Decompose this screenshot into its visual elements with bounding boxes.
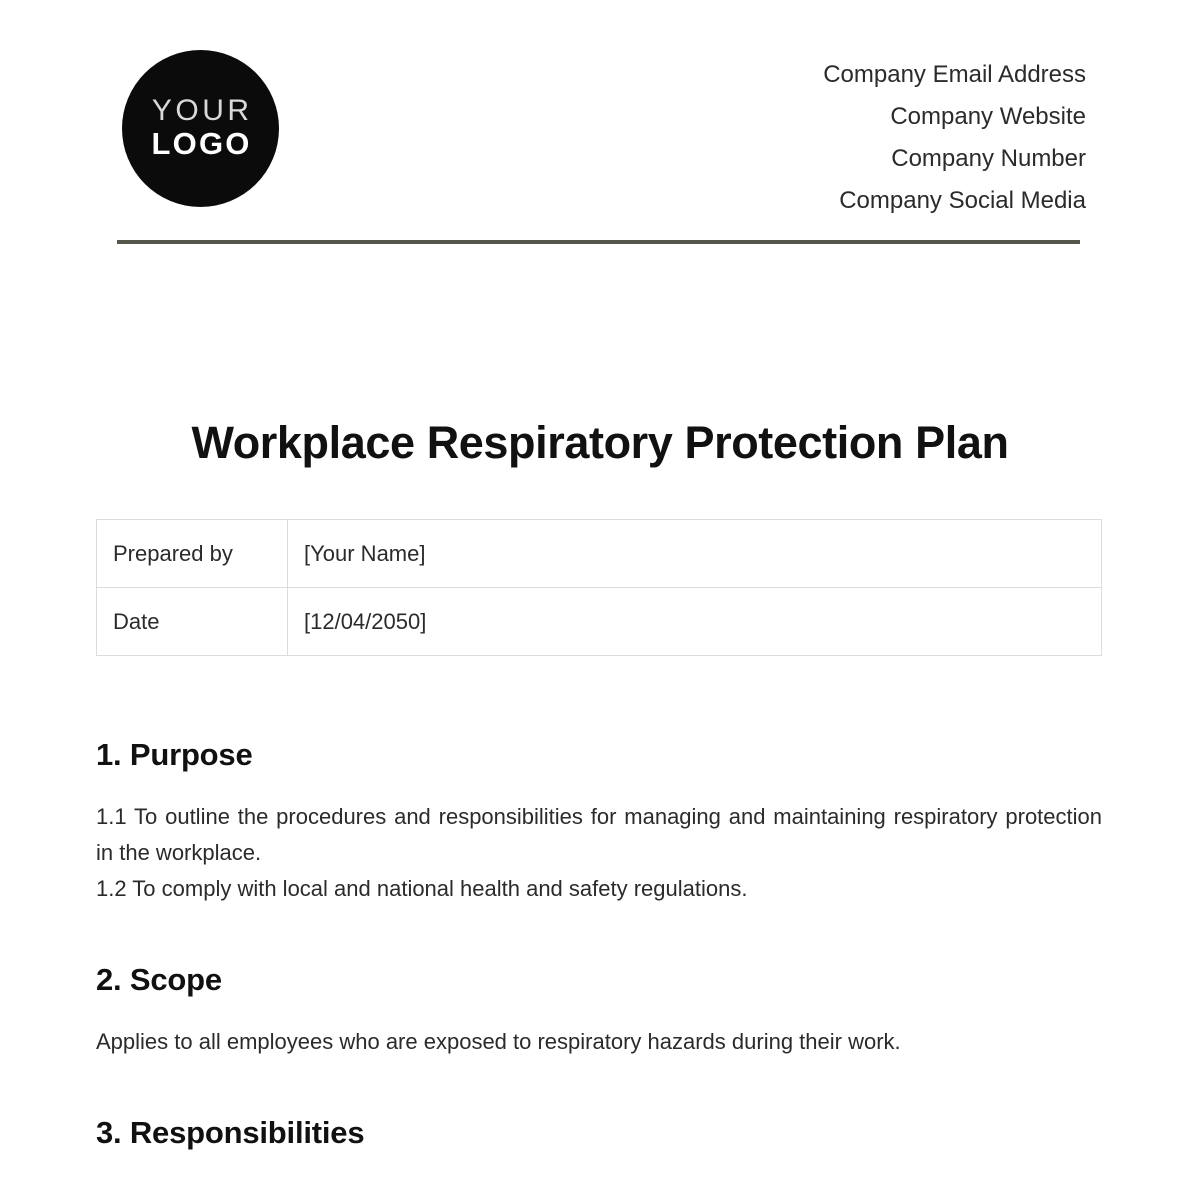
prepared-by-value[interactable]: [Your Name]	[288, 520, 1102, 588]
document-page: YOUR LOGO Company Email Address Company …	[0, 0, 1200, 1200]
section-scope-paragraph: Applies to all employees who are exposed…	[96, 1024, 1102, 1060]
header-divider-rule	[117, 240, 1080, 244]
contact-email-line: Company Email Address	[823, 54, 1086, 96]
date-value[interactable]: [12/04/2050]	[288, 588, 1102, 656]
date-label: Date	[97, 588, 288, 656]
section-responsibilities: 3. Responsibilities	[96, 1114, 1102, 1151]
document-info-table: Prepared by [Your Name] Date [12/04/2050…	[96, 519, 1102, 656]
table-row: Date [12/04/2050]	[97, 588, 1102, 656]
company-contact-block: Company Email Address Company Website Co…	[823, 50, 1086, 222]
logo-top-text: YOUR	[148, 96, 252, 127]
section-scope: 2. Scope Applies to all employees who ar…	[96, 961, 1102, 1060]
document-body: 1. Purpose 1.1 To outline the procedures…	[96, 736, 1102, 1178]
section-heading-scope: 2. Scope	[96, 961, 1102, 998]
logo-bottom-text: LOGO	[149, 128, 251, 161]
section-purpose-paragraph-1-1: 1.1 To outline the procedures and respon…	[96, 799, 1102, 871]
section-purpose-paragraph-1-2: 1.2 To comply with local and national he…	[96, 871, 1102, 907]
section-heading-responsibilities: 3. Responsibilities	[96, 1114, 1102, 1151]
table-row: Prepared by [Your Name]	[97, 520, 1102, 588]
page-title: Workplace Respiratory Protection Plan	[96, 416, 1104, 470]
section-heading-purpose: 1. Purpose	[96, 736, 1102, 773]
document-header: YOUR LOGO Company Email Address Company …	[96, 50, 1086, 210]
contact-website-line: Company Website	[823, 96, 1086, 138]
section-purpose: 1. Purpose 1.1 To outline the procedures…	[96, 736, 1102, 907]
contact-social-media-line: Company Social Media	[823, 180, 1086, 222]
prepared-by-label: Prepared by	[97, 520, 288, 588]
contact-number-line: Company Number	[823, 138, 1086, 180]
company-logo: YOUR LOGO	[122, 50, 279, 207]
